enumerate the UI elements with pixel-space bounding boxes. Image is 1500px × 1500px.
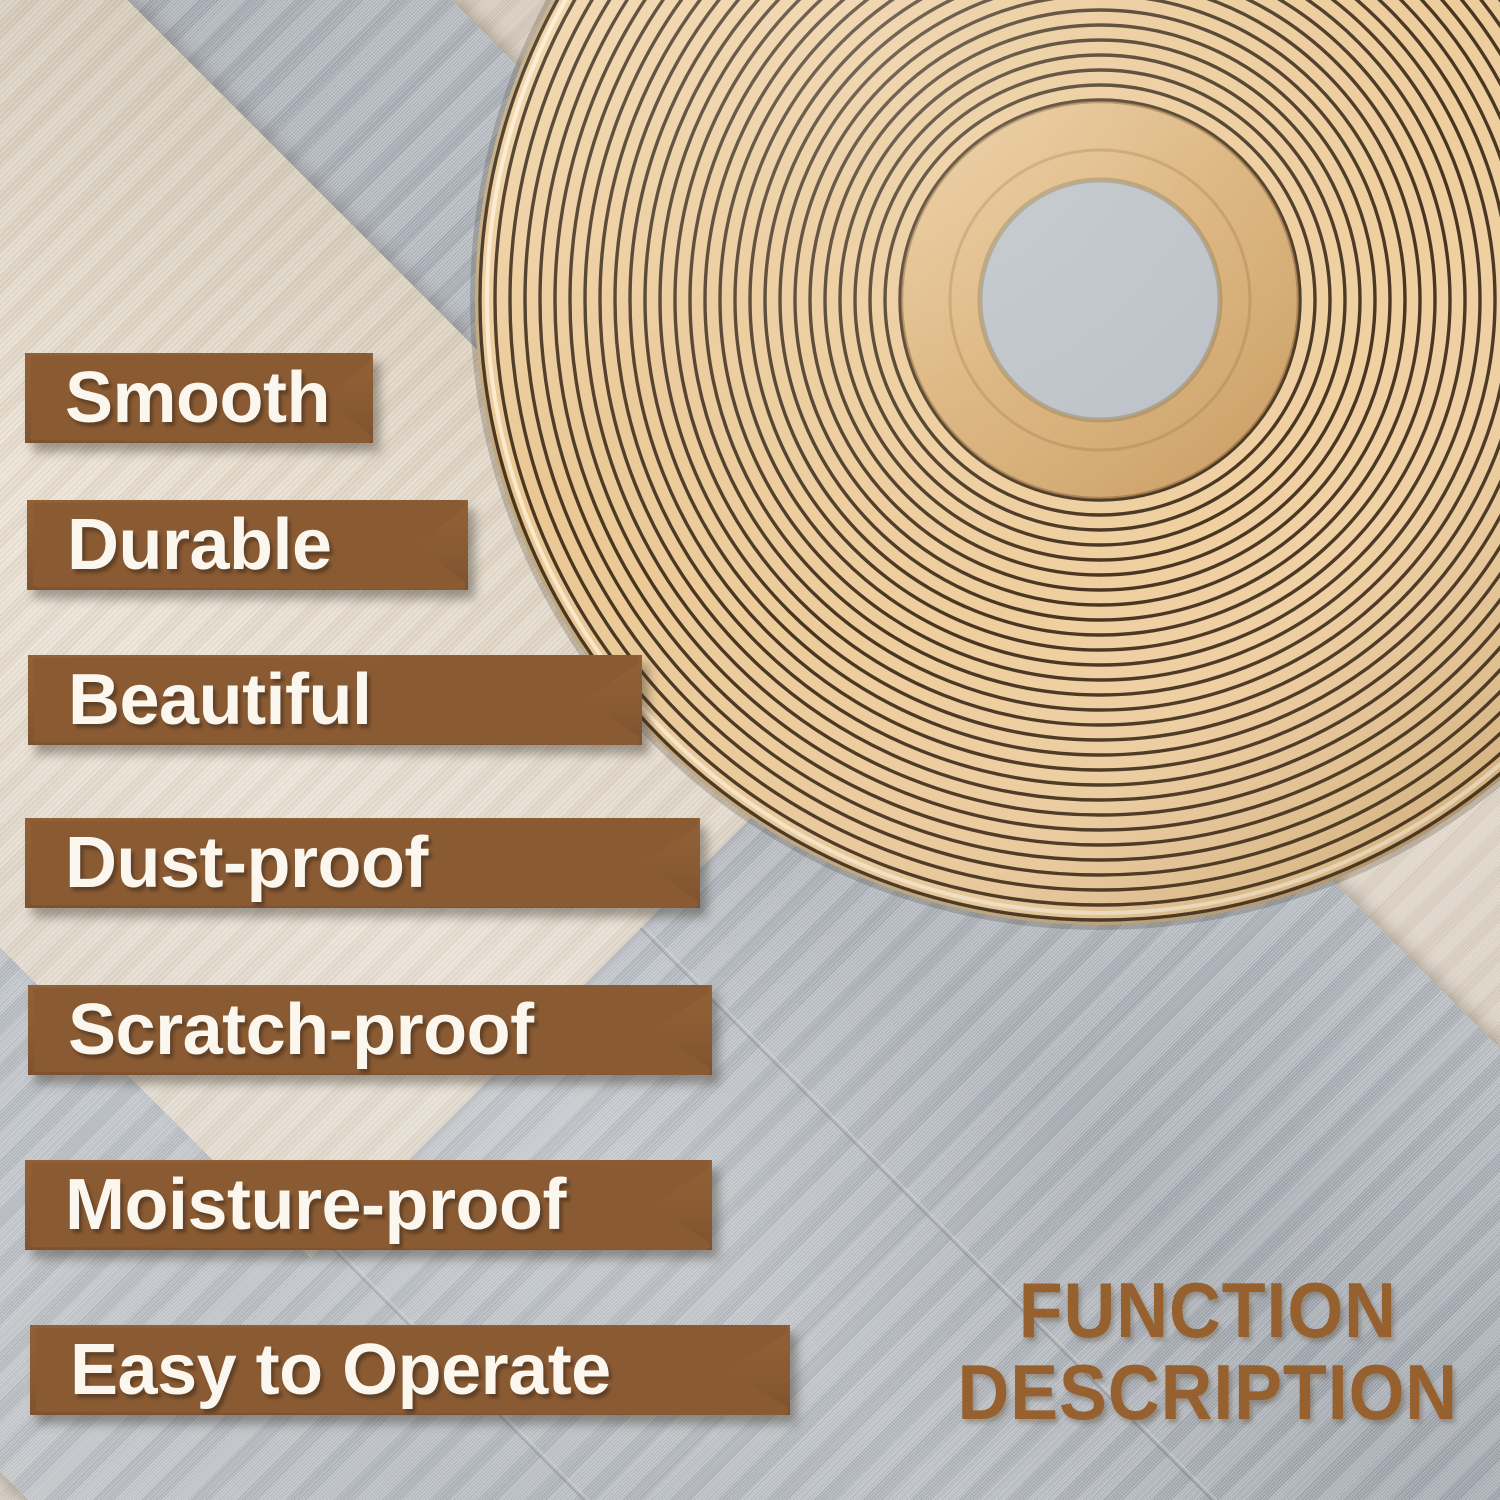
feature-label: Smooth: [25, 362, 330, 434]
heading-line-1: FUNCTION: [957, 1269, 1458, 1352]
heading-line-2: DESCRIPTION: [957, 1351, 1458, 1434]
feature-label: Beautiful: [28, 664, 372, 736]
feature-label: Easy to Operate: [30, 1334, 611, 1406]
feature-label: Durable: [27, 509, 332, 581]
feature-banner-scratch-proof[interactable]: Scratch-proof: [28, 985, 712, 1075]
feature-banner-beautiful[interactable]: Beautiful: [28, 655, 642, 745]
feature-banner-list: Smooth Durable Beautiful Dust-proof Scra: [0, 0, 860, 1500]
feature-label: Dust-proof: [25, 827, 428, 899]
feature-banner-easy-to-operate[interactable]: Easy to Operate: [30, 1325, 790, 1415]
feature-banner-moisture-proof[interactable]: Moisture-proof: [25, 1160, 712, 1250]
feature-label: Moisture-proof: [25, 1169, 566, 1241]
function-description-heading: FUNCTION DESCRIPTION: [957, 1269, 1458, 1434]
feature-banner-smooth[interactable]: Smooth: [25, 353, 373, 443]
feature-label: Scratch-proof: [28, 994, 534, 1066]
feature-banner-dust-proof[interactable]: Dust-proof: [25, 818, 700, 908]
product-feature-image: Smooth Durable Beautiful Dust-proof Scra: [0, 0, 1500, 1500]
feature-banner-durable[interactable]: Durable: [27, 500, 468, 590]
